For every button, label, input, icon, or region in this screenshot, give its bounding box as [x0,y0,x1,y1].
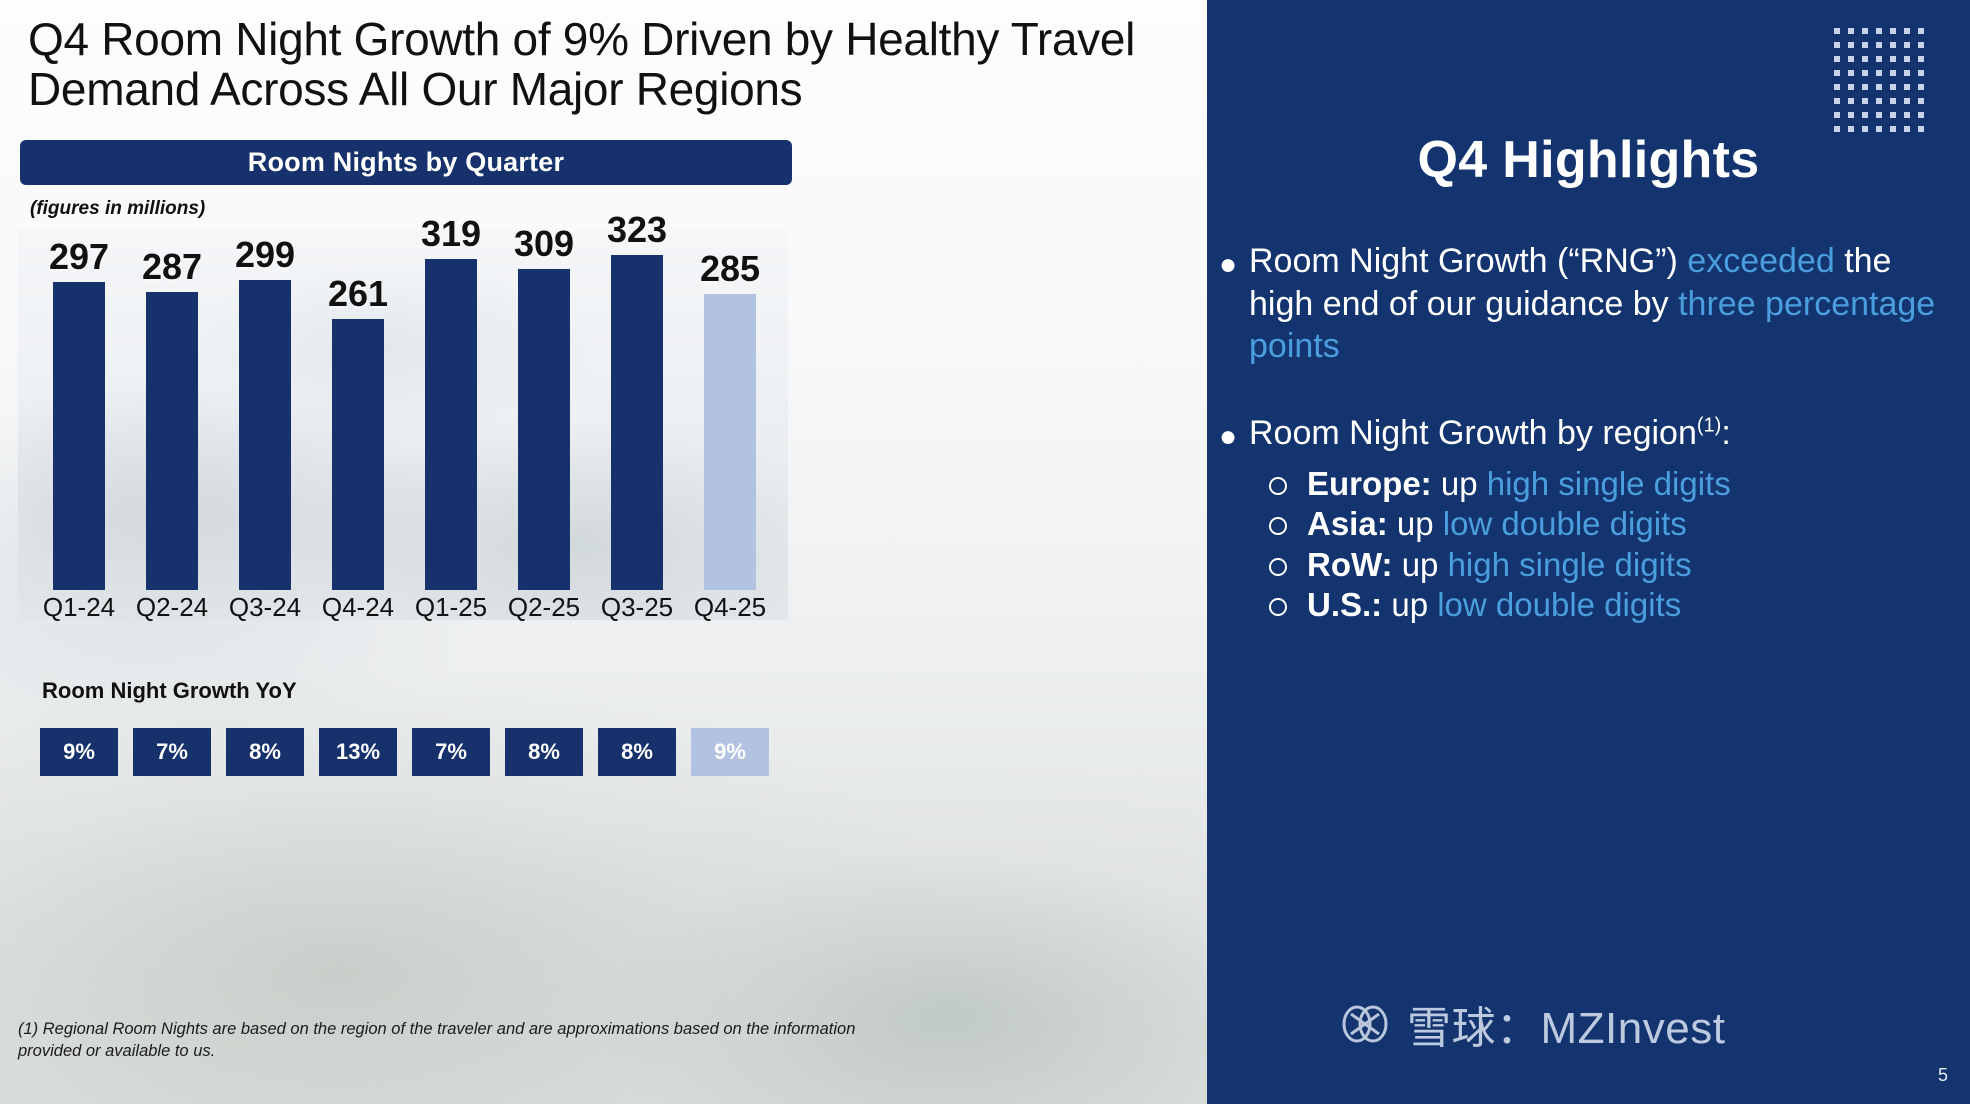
bar-value-label: 299 [235,237,295,273]
grid-dot [1918,98,1924,104]
watermark-text: 雪球：MZInvest [1407,992,1725,1056]
region-name: RoW: [1307,546,1393,583]
grid-dot [1904,98,1910,104]
region-name: Europe: [1307,465,1432,502]
bullet-rng-highlight-exceeded: exceeded [1687,242,1834,280]
grid-dot [1862,70,1868,76]
highlights-bullets: ● Room Night Growth (“RNG”) exceeded the… [1207,240,1970,625]
bullet-text-region: Room Night Growth by region(1): [1249,412,1940,455]
bar-value-label: 287 [142,249,202,285]
grid-dot [1834,28,1840,34]
grid-dot [1890,84,1896,90]
region-list-item-text: U.S.: up low double digits [1307,585,1681,625]
region-value: low double digits [1443,505,1687,542]
chart-banner-label: Room Nights by Quarter [248,147,564,178]
dot-grid-decoration [1834,28,1928,136]
bar [425,259,477,590]
bar-value-label: 261 [328,276,388,312]
bar-column: 285 [695,251,765,590]
page-title: Q4 Room Night Growth of 9% Driven by Hea… [28,14,1148,114]
region-list-item: Europe: up high single digits [1249,464,1940,504]
grid-dot [1848,28,1854,34]
bar-column: 261 [323,276,393,590]
bar-column: 323 [602,212,672,590]
grid-dot [1904,84,1910,90]
grid-dot [1834,98,1840,104]
bar [611,255,663,590]
bar-column: 319 [416,216,486,590]
grid-dot [1862,98,1868,104]
region-list-item-text: Asia: up low double digits [1307,504,1687,544]
region-name: U.S.: [1307,586,1382,623]
hollow-bullet-icon [1249,515,1307,541]
grid-dot [1918,42,1924,48]
bar-chart: 297287299261319309323285 [18,230,788,590]
growth-percentage-box: 8% [598,728,676,776]
region-list-item-text: RoW: up high single digits [1307,545,1692,585]
region-sublist: Europe: up high single digitsAsia: up lo… [1249,464,1940,625]
page-number: 5 [1938,1065,1948,1086]
bar-value-label: 309 [514,226,574,262]
region-list-item-text: Europe: up high single digits [1307,464,1731,504]
region-connector: up [1432,465,1487,502]
grid-dot [1904,70,1910,76]
growth-percentage-box: 9% [691,728,769,776]
growth-percentage-row: 9%7%8%13%7%8%8%9% [18,728,798,778]
growth-percentage-box: 13% [319,728,397,776]
grid-dot [1890,112,1896,118]
grid-dot [1862,42,1868,48]
hollow-bullet-icon [1249,556,1307,582]
grid-dot [1862,84,1868,90]
growth-percentage-box: 7% [133,728,211,776]
growth-percentage-box: 9% [40,728,118,776]
grid-dot [1862,28,1868,34]
region-list-item: Asia: up low double digits [1249,504,1940,544]
x-axis-label: Q1-24 [31,592,127,623]
x-axis-label: Q1-25 [403,592,499,623]
grid-dot [1862,112,1868,118]
bullet-text-rng: Room Night Growth (“RNG”) exceeded the h… [1249,240,1940,368]
x-axis-label: Q3-24 [217,592,313,623]
grid-dot [1904,28,1910,34]
grid-dot [1876,70,1882,76]
grid-dot [1876,56,1882,62]
region-list-item: RoW: up high single digits [1249,545,1940,585]
grid-dot [1890,42,1896,48]
grid-dot [1890,98,1896,104]
grid-dot [1876,28,1882,34]
grid-dot [1834,42,1840,48]
region-name: Asia: [1307,505,1388,542]
x-axis-label: Q2-25 [496,592,592,623]
grid-dot [1834,56,1840,62]
highlights-panel: Q4 Highlights ● Room Night Growth (“RNG”… [1207,0,1970,1104]
bar [704,294,756,590]
grid-dot [1890,70,1896,76]
left-panel: Q4 Room Night Growth of 9% Driven by Hea… [0,0,1207,1104]
x-axis-label: Q3-25 [589,592,685,623]
growth-percentage-box: 8% [505,728,583,776]
slide: Q4 Room Night Growth of 9% Driven by Hea… [0,0,1970,1104]
bar [332,319,384,590]
grid-dot [1834,84,1840,90]
bullet-region-colon: : [1721,414,1730,452]
bullet-dot-icon: ● [1207,412,1249,626]
grid-dot [1876,98,1882,104]
growth-percentage-box: 7% [412,728,490,776]
grid-dot [1848,56,1854,62]
grid-dot [1918,112,1924,118]
region-connector: up [1382,586,1437,623]
grid-dot [1848,112,1854,118]
grid-dot [1904,56,1910,62]
grid-dot [1890,28,1896,34]
grid-dot [1918,56,1924,62]
bullet-region-lead: Room Night Growth by region [1249,414,1697,452]
grid-dot [1904,112,1910,118]
growth-row-label: Room Night Growth YoY [42,678,297,704]
bar-chart-x-axis: Q1-24Q2-24Q3-24Q4-24Q1-25Q2-25Q3-25Q4-25 [18,592,788,626]
region-connector: up [1388,505,1443,542]
bullet-item-rng: ● Room Night Growth (“RNG”) exceeded the… [1207,240,1970,368]
xueqiu-logo-icon [1339,998,1391,1050]
growth-percentage-box: 8% [226,728,304,776]
region-value: high single digits [1487,465,1731,502]
grid-dot [1848,84,1854,90]
bar [53,282,105,590]
footnote: (1) Regional Room Nights are based on th… [18,1018,918,1063]
highlights-heading: Q4 Highlights [1207,130,1970,190]
grid-dot [1848,42,1854,48]
bullet-rng-part1: Room Night Growth (“RNG”) [1249,242,1687,280]
x-axis-label: Q4-25 [682,592,778,623]
chart-banner: Room Nights by Quarter [20,140,792,185]
region-connector: up [1393,546,1448,583]
grid-dot [1848,70,1854,76]
grid-dot [1876,112,1882,118]
x-axis-label: Q2-24 [124,592,220,623]
bar-column: 297 [44,239,114,590]
hollow-bullet-icon [1249,475,1307,501]
region-list-item: U.S.: up low double digits [1249,585,1940,625]
bullet-item-region: ● Room Night Growth by region(1): Europe… [1207,412,1970,626]
grid-dot [1918,84,1924,90]
bullet-dot-icon: ● [1207,240,1249,368]
grid-dot [1904,42,1910,48]
bar [518,269,570,590]
bar-column: 299 [230,237,300,590]
bullet-region-superscript: (1) [1697,414,1721,436]
grid-dot [1834,70,1840,76]
bar-column: 287 [137,249,207,590]
bar [239,280,291,590]
bar-value-label: 297 [49,239,109,275]
grid-dot [1890,56,1896,62]
grid-dot [1876,42,1882,48]
grid-dot [1834,112,1840,118]
units-note: (figures in millions) [30,198,205,220]
grid-dot [1918,28,1924,34]
watermark: 雪球：MZInvest [1339,992,1725,1056]
grid-dot [1918,70,1924,76]
region-value: high single digits [1448,546,1692,583]
grid-dot [1876,84,1882,90]
hollow-bullet-icon [1249,596,1307,622]
bar [146,292,198,590]
grid-dot [1862,56,1868,62]
x-axis-label: Q4-24 [310,592,406,623]
bar-value-label: 323 [607,212,667,248]
bar-column: 309 [509,226,579,590]
bar-value-label: 285 [700,251,760,287]
grid-dot [1848,98,1854,104]
bar-value-label: 319 [421,216,481,252]
region-value: low double digits [1437,586,1681,623]
